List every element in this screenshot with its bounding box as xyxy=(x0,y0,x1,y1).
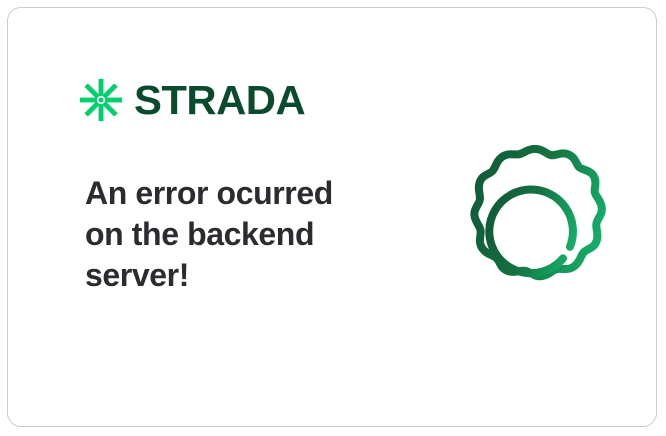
strada-asterisk-icon xyxy=(79,78,123,122)
brand-logo: STRADA xyxy=(79,74,302,126)
error-headline: An error ocurred on the backend server! xyxy=(85,173,385,296)
page-root: STRADA An error ocurred on the backend s… xyxy=(0,0,666,436)
brand-wordmark: STRADA xyxy=(134,80,305,121)
error-card: STRADA An error ocurred on the backend s… xyxy=(7,7,657,427)
gear-cog-icon xyxy=(446,140,624,318)
